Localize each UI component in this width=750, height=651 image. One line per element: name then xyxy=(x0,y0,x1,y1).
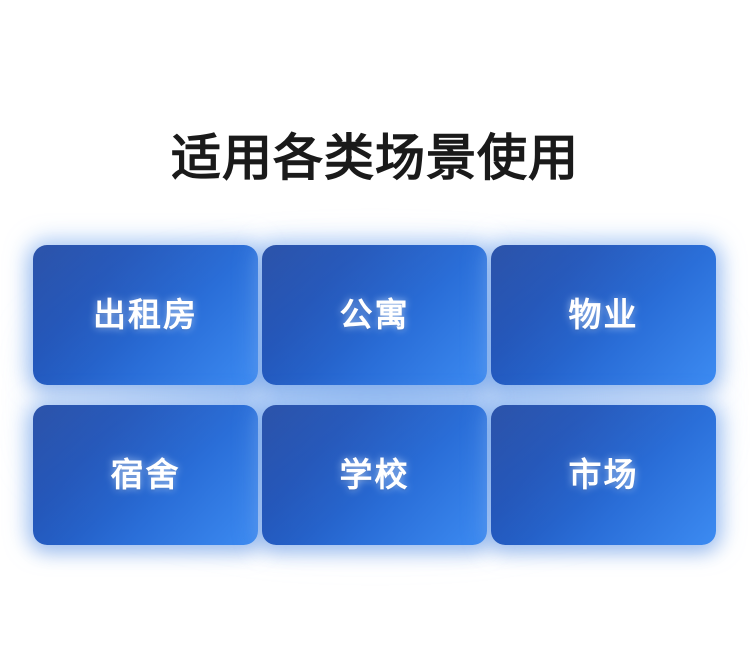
scenario-card-grid: 出租房 公寓 物业 宿舍 学校 市场 xyxy=(33,245,717,545)
scenario-card-label: 物业 xyxy=(569,295,639,335)
page-title-container: 适用各类场景使用 xyxy=(0,93,750,222)
scenario-card-label: 市场 xyxy=(569,455,639,495)
scenario-card-rental-house[interactable]: 出租房 xyxy=(33,245,258,385)
scenario-card-apartment[interactable]: 公寓 xyxy=(262,245,487,385)
scenario-showcase-page: 适用各类场景使用 出租房 公寓 物业 宿舍 学校 市场 xyxy=(0,0,750,651)
scenario-card-market[interactable]: 市场 xyxy=(491,405,716,545)
scenario-card-dormitory[interactable]: 宿舍 xyxy=(33,405,258,545)
scenario-card-label: 公寓 xyxy=(340,295,410,335)
scenario-card-label: 出租房 xyxy=(93,295,198,335)
page-title: 适用各类场景使用 xyxy=(171,127,579,189)
scenario-card-school[interactable]: 学校 xyxy=(262,405,487,545)
scenario-card-label: 宿舍 xyxy=(111,455,181,495)
scenario-card-label: 学校 xyxy=(340,455,410,495)
scenario-card-property-management[interactable]: 物业 xyxy=(491,245,716,385)
